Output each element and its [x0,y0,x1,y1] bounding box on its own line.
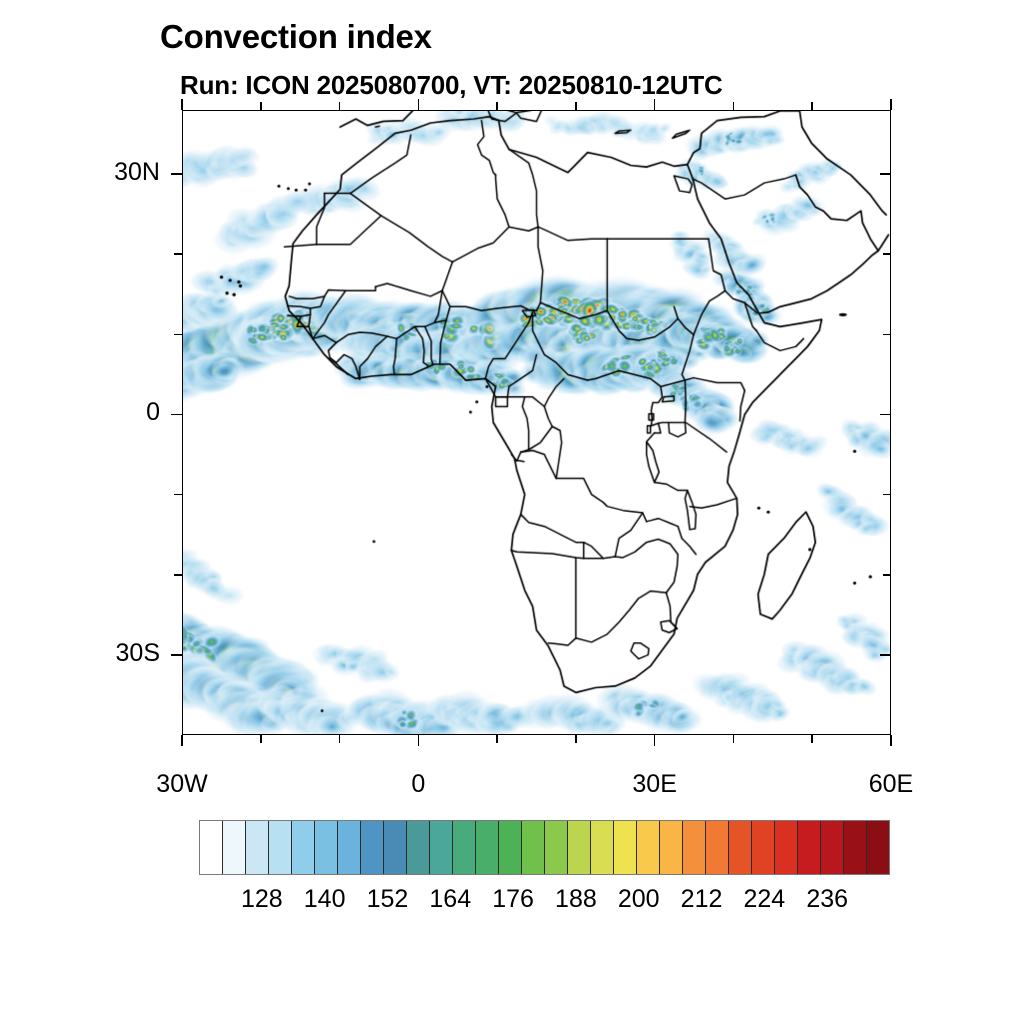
y-tick-right [883,334,891,336]
x-tick [418,735,420,746]
run-validtime-subtitle: Run: ICON 2025080700, VT: 20250810-12UTC [180,70,723,101]
colorbar-cell [476,821,499,874]
x-tick [654,735,656,746]
y-tick-right [880,414,891,416]
convection-index-heatmap [183,111,890,734]
y-tick-right [880,173,891,175]
colorbar-cell [269,821,292,874]
x-tick [890,735,892,746]
x-tick-top [733,102,735,110]
colorbar-cell [522,821,545,874]
x-tick [260,735,262,743]
x-tick-top [260,102,262,110]
x-tick-top [339,102,341,110]
colorbar-cell [545,821,568,874]
page-title: Convection index [160,18,432,56]
y-tick-right [883,494,891,496]
y-tick-right [883,253,891,255]
y-tick-right [883,574,891,576]
colorbar-cell [384,821,407,874]
y-axis-label: 0 [40,398,160,427]
colorbar-cell [223,821,246,874]
colorbar-cell [200,821,223,874]
colorbar-cell [821,821,844,874]
colorbar-cell [453,821,476,874]
x-tick-top [654,99,656,110]
colorbar-cell [568,821,591,874]
y-tick-right [880,654,891,656]
colorbar-cell [292,821,315,874]
y-tick [174,334,182,336]
colorbar-cell [683,821,706,874]
map-plot-area[interactable] [182,110,891,735]
colorbar-cell [752,821,775,874]
colorbar-cell [315,821,338,874]
y-tick [171,414,182,416]
colorbar-cell [867,821,889,874]
colorbar-cell [637,821,660,874]
colorbar-cell [844,821,867,874]
colorbar-cell [591,821,614,874]
colorbar-cell [407,821,430,874]
colorbar-cell [499,821,522,874]
y-tick [174,253,182,255]
x-axis-label: 60E [821,770,961,799]
colorbar-cell [430,821,453,874]
colorbar-cell [614,821,637,874]
y-tick [174,574,182,576]
colorbar-cell [706,821,729,874]
y-tick [171,654,182,656]
colorbar-cell [729,821,752,874]
x-tick [811,735,813,743]
x-tick [733,735,735,743]
x-tick-top [575,102,577,110]
x-axis-label: 30E [585,770,725,799]
colorbar-cell [361,821,384,874]
y-axis-label: 30N [40,158,160,187]
x-tick [339,735,341,743]
x-tick [496,735,498,743]
x-axis-label: 30W [112,770,252,799]
colorbar-cell [246,821,269,874]
x-tick-top [890,99,892,110]
y-tick [174,494,182,496]
y-axis-label: 30S [40,639,160,668]
colorbar-cell [775,821,798,874]
x-tick-top [496,102,498,110]
x-tick-top [811,102,813,110]
x-axis-label: 0 [348,770,488,799]
x-tick [575,735,577,743]
colorbar-tick-label: 236 [782,885,872,914]
colorbar-cell [798,821,821,874]
y-tick [171,173,182,175]
x-tick [181,735,183,746]
colorbar-cell [660,821,683,874]
colorbar-cell [338,821,361,874]
colorbar[interactable] [199,820,890,875]
x-tick-top [181,99,183,110]
x-tick-top [418,99,420,110]
